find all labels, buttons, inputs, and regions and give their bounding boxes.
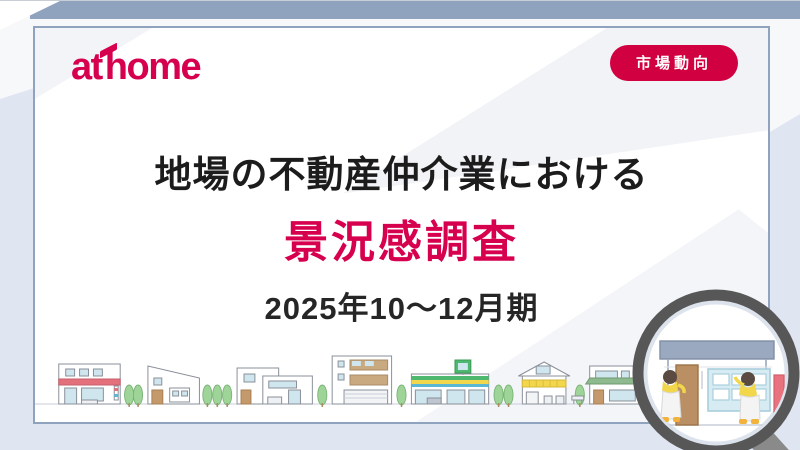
top-edge-line <box>0 0 800 1</box>
logo-text-at: at <box>71 46 102 88</box>
status-badge: 市場動向 <box>610 45 738 81</box>
logo-text-home: home <box>105 46 200 88</box>
page-subtitle: 景況感調査 <box>35 206 768 270</box>
poster-root: athome 市場動向 地場の不動産仲介業における 景況感調査 2025年10～… <box>0 0 800 450</box>
magnifying-glass-icon <box>632 289 800 450</box>
page-title: 地場の不動産仲介業における <box>35 144 768 198</box>
athome-logo: athome <box>71 48 200 86</box>
top-accent-band <box>30 0 800 19</box>
